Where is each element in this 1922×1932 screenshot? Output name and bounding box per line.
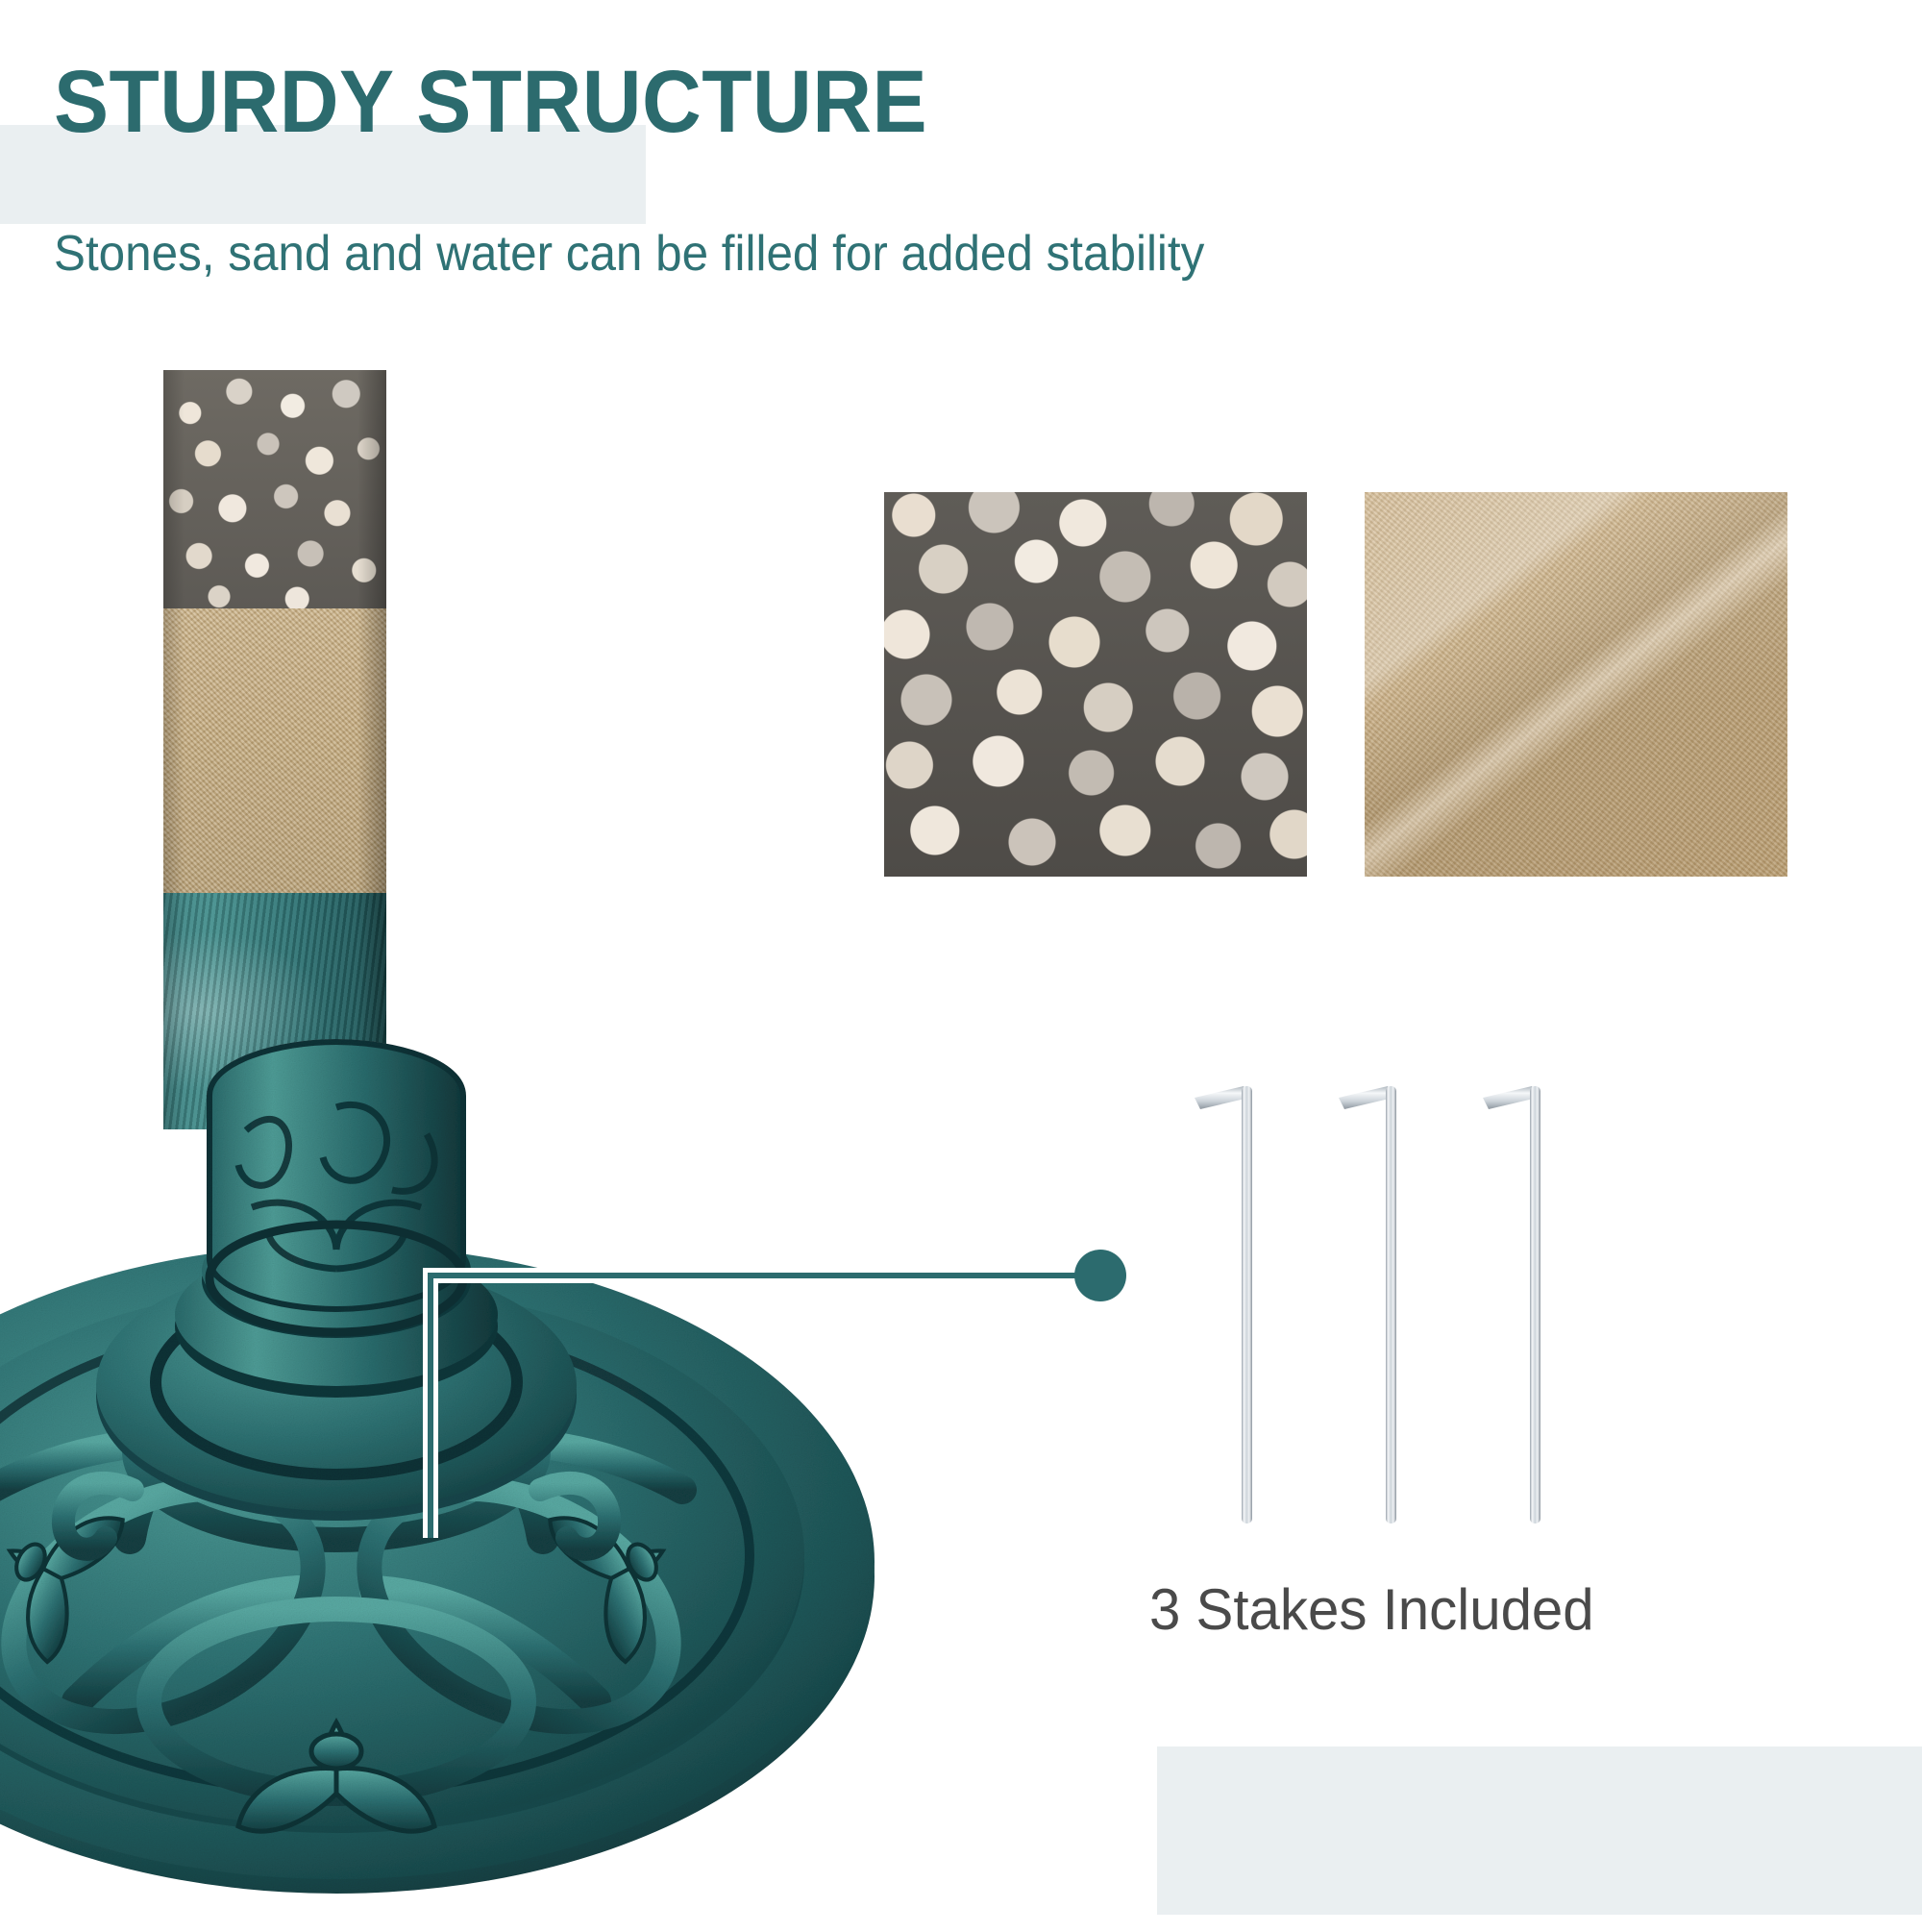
footer-accent-band <box>1157 1746 1922 1915</box>
page-title: STURDY STRUCTURE <box>54 58 927 146</box>
callout-leader-line <box>413 1250 1124 1557</box>
pole-shading-left <box>163 370 185 1129</box>
stakes-caption: 3 Stakes Included <box>1149 1581 1594 1639</box>
pole-shading-right <box>357 370 386 1129</box>
cutaway-layer-stones <box>163 370 386 608</box>
poster-canvas: STURDY STRUCTURE Stones, sand and water … <box>0 0 1922 1922</box>
page-subtitle: Stones, sand and water can be filled for… <box>54 229 1204 279</box>
cutaway-layer-sand <box>163 608 386 893</box>
sand-photo <box>1365 492 1787 877</box>
gravel-photo <box>884 492 1307 877</box>
ground-stakes-group <box>1182 1077 1624 1538</box>
pole-cutaway-diagram <box>163 370 386 1129</box>
stake <box>1339 1086 1396 1523</box>
callout-endpoint-dot <box>1074 1250 1126 1301</box>
stake <box>1195 1086 1252 1523</box>
stake <box>1483 1086 1540 1523</box>
